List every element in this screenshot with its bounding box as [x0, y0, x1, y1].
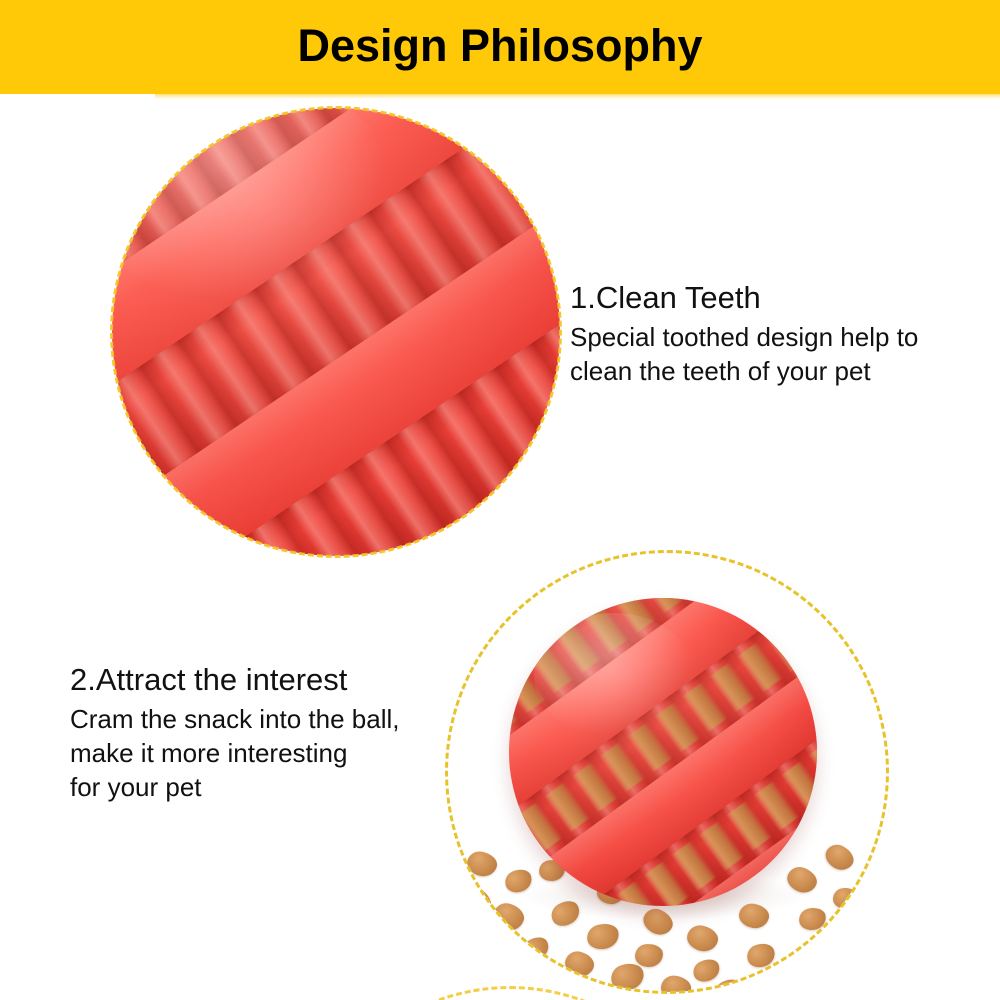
kibble-piece — [562, 948, 596, 979]
kibble-piece — [797, 905, 828, 932]
kibble-piece — [659, 974, 692, 992]
kibble-piece — [684, 923, 720, 955]
kibble-piece — [711, 975, 746, 992]
chew-ball-macro-image — [112, 108, 560, 556]
photo-ball-with-kibble — [447, 552, 887, 992]
kibble-piece — [520, 933, 553, 964]
feature-body-line: Cram the snack into the ball, — [70, 702, 450, 736]
kibble-piece — [584, 921, 621, 953]
page-title: Design Philosophy — [0, 18, 1000, 74]
photo-toothed-ball-closeup — [112, 108, 560, 556]
kibble-piece — [465, 849, 499, 879]
feature-body-line: for your pet — [70, 770, 450, 804]
feature-title: 1.Clean Teeth — [570, 280, 980, 316]
kibble-piece — [766, 967, 804, 992]
feature-title: 2.Attract the interest — [70, 662, 450, 698]
kibble-scene — [447, 552, 887, 992]
banner-shadow — [155, 94, 1000, 99]
kibble-piece — [833, 888, 860, 910]
kibble-piece — [455, 881, 496, 920]
ball-highlight — [534, 613, 694, 736]
infographic-page: Design Philosophy — [0, 0, 1000, 1000]
feature-body-line: Special toothed design help to — [570, 320, 980, 354]
header-banner: Design Philosophy — [0, 0, 1000, 94]
kibble-piece — [690, 955, 723, 985]
feature-clean-teeth: 1.Clean Teeth Special toothed design hel… — [570, 280, 980, 388]
kibble-piece — [744, 940, 778, 971]
chew-ball-with-kibble — [509, 598, 817, 906]
kibble-piece — [821, 840, 858, 874]
feature-attract-the-interest: 2.Attract the interest Cram the snack in… — [70, 662, 450, 804]
feature-body-line: make it more interesting — [70, 736, 450, 770]
feature-body-line: clean the teeth of your pet — [570, 354, 980, 388]
kibble-piece — [634, 943, 664, 968]
